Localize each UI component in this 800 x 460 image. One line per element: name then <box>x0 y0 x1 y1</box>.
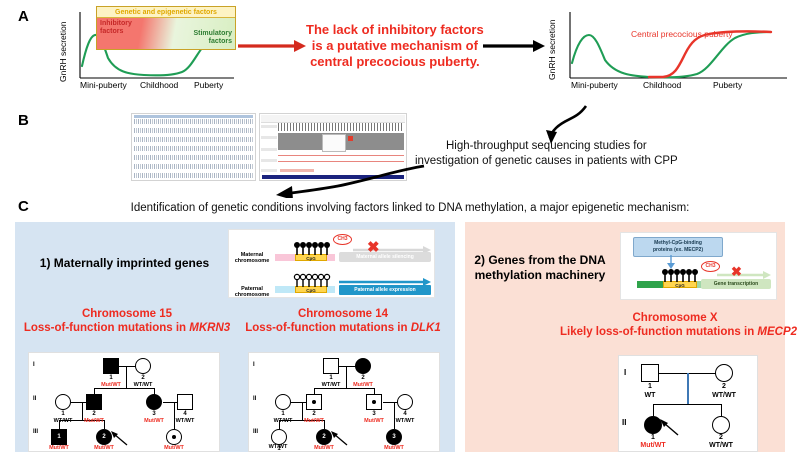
sibship-branch <box>721 404 722 416</box>
maternal-chromosome-label: Maternal chromosome <box>231 252 273 264</box>
generation-label-iii: III <box>33 429 38 435</box>
paternal-dna-left <box>275 286 295 293</box>
pedigree-symbol[interactable] <box>715 364 733 382</box>
pedigree-symbol[interactable] <box>86 394 102 410</box>
alignment-row <box>134 146 253 151</box>
case-mkrn3-chromosome: Chromosome 15 <box>22 307 232 321</box>
case-dlk1-chromosome: Chromosome 14 <box>238 307 448 321</box>
browser-red-track <box>278 161 404 162</box>
gene-transcription-box: Gene transcription <box>701 279 771 289</box>
stimulatory-line-2: factors <box>193 38 232 46</box>
chart-right-xtick-1: Childhood <box>643 80 681 90</box>
pedigree-symbol[interactable] <box>397 394 413 410</box>
pedigree-symbol[interactable] <box>323 358 339 374</box>
factor-legend-header: Genetic and epigenetic factors <box>97 7 235 18</box>
panel-letter-a: A <box>18 8 29 25</box>
proband-arrow-icon <box>331 431 349 447</box>
curved-arrow-to-panel-c-icon <box>188 164 428 198</box>
factor-gradient-block: Genetic and epigenetic factors Inhibitor… <box>96 6 236 50</box>
maternal-dna-left <box>275 254 295 261</box>
paternal-allele-expression-box: Paternal allele expression <box>339 285 431 295</box>
member-genotype: WT/WT <box>703 392 745 399</box>
dlk1-member-iii-1-genotype: WT/WT <box>254 444 302 450</box>
member-number: 2 <box>316 434 332 440</box>
methyl-group-filled-icon <box>293 240 331 255</box>
consanguinity-drop <box>687 373 689 404</box>
member-genotype: WT/WT <box>119 382 167 388</box>
dna-exon-left <box>637 281 663 288</box>
member-number: 2 <box>306 411 322 417</box>
cpp-statement: The lack of inhibitory factors is a puta… <box>306 22 484 70</box>
member-number: 2 <box>715 383 733 390</box>
maternal-cpg-island: CpG <box>295 254 327 261</box>
chart-left-xtick-1: Childhood <box>140 80 178 90</box>
pedigree-symbol[interactable] <box>712 416 730 434</box>
case-mecp2-caption: Chromosome X Likely loss-of-function mut… <box>560 311 790 339</box>
case-mecp2-prefix: Likely loss-of-function mutations in <box>560 326 757 338</box>
member-number: 2 <box>135 375 151 381</box>
inhibitory-factors-label: Inhibitory factors <box>100 20 132 36</box>
generation-label-iii: III <box>253 429 258 435</box>
methylation-machinery-schematic: Methyl-CpG-binding proteins (ex. MECP2) … <box>620 232 777 300</box>
member-number: 3 <box>146 411 162 417</box>
member-genotype: Mut/WT <box>70 418 118 424</box>
alignment-row <box>134 128 253 133</box>
case-dlk1-mutation: Loss-of-function mutations in DLK1 <box>238 321 448 335</box>
generation-label-i: I <box>33 362 35 368</box>
browser-toolbar <box>261 115 405 123</box>
member-number: 1 <box>641 383 659 390</box>
member-number: 2 <box>712 434 730 441</box>
pedigree-symbol[interactable] <box>177 394 193 410</box>
member-number: 1 <box>275 411 291 417</box>
member-number: 4 <box>177 411 193 417</box>
carrier-dot-icon <box>372 400 376 404</box>
group2-heading: 2) Genes from the DNA methylation machin… <box>470 253 610 283</box>
member-number: 2 <box>96 434 112 440</box>
stimulatory-line-1: Stimulatory <box>193 30 232 38</box>
pedigree-mkrn3: I II III 1 Mut/WT 2 WT/WT 1 WT/WT 2 Mut/… <box>28 352 220 452</box>
member-number: 2 <box>86 411 102 417</box>
paternal-label-line-2: chromosome <box>231 292 273 298</box>
pedigree-symbol[interactable] <box>271 429 287 445</box>
proband-arrow-icon <box>660 419 680 437</box>
chart-left-xtick-0: Mini-puberty <box>80 80 127 90</box>
case-mkrn3-gene: MKRN3 <box>189 322 230 334</box>
stimulatory-factors-label: Stimulatory factors <box>193 30 232 46</box>
methyl-group-open-icon <box>293 272 331 287</box>
sibship-branch <box>653 404 654 416</box>
generation-label-ii: II <box>253 396 256 402</box>
member-genotype: WT/WT <box>700 442 742 449</box>
panel-b-caption: High-throughput sequencing studies for i… <box>415 139 678 169</box>
alignment-row <box>134 119 253 124</box>
case-dlk1-caption: Chromosome 14 Loss-of-function mutations… <box>238 307 448 335</box>
browser-popup <box>322 134 346 152</box>
cpp-statement-line-3: central precocious puberty. <box>306 54 484 70</box>
maternal-ch3-label: CH3 <box>333 234 352 245</box>
member-number: 1 <box>51 434 67 440</box>
case-mkrn3-prefix: Loss-of-function mutations in <box>24 322 189 334</box>
case-mecp2-chromosome: Chromosome X <box>560 311 790 325</box>
transcription-block-x-icon: ✖ <box>731 265 742 278</box>
case-mecp2-mutation: Likely loss-of-function mutations in MEC… <box>560 325 790 339</box>
cpp-statement-line-1: The lack of inhibitory factors <box>306 22 484 38</box>
black-arrow-icon <box>483 38 545 54</box>
member-genotype: WT/WT <box>381 418 429 424</box>
sibship-line <box>653 404 722 405</box>
case-mecp2-gene: MECP2 <box>757 326 797 338</box>
generation-label-i: I <box>624 368 626 377</box>
panel-b-caption-line-1: High-throughput sequencing studies for <box>415 139 678 154</box>
group2-heading-line-1: 2) Genes from the DNA <box>470 253 610 268</box>
member-number: 3 <box>166 434 182 440</box>
member-number: 3 <box>366 411 382 417</box>
case-dlk1-prefix: Loss-of-function mutations in <box>245 322 410 334</box>
member-genotype: Mut/WT <box>632 442 674 449</box>
chart-right-xtick-0: Mini-puberty <box>571 80 618 90</box>
member-genotype: WT <box>629 392 671 399</box>
chart-right-xtick-2: Puberty <box>713 80 742 90</box>
member-number: 4 <box>397 411 413 417</box>
panel-b-caption-line-2: investigation of genetic causes in patie… <box>415 154 678 169</box>
alignment-row <box>134 155 253 160</box>
member-genotype: Mut/WT <box>290 418 338 424</box>
maternal-label-line-2: chromosome <box>231 258 273 264</box>
case-dlk1-gene: DLK1 <box>411 322 441 334</box>
paternal-dna-mid <box>327 286 335 293</box>
pedigree-dlk1: I II III 1 WT/WT 2 Mut/WT 1 WT/WT 2 Mut/… <box>248 352 440 452</box>
proband-arrow-icon <box>111 431 129 447</box>
chart-cpp: GnRH secretion Central precocious pubert… <box>545 8 790 93</box>
generation-label-ii: II <box>33 396 36 402</box>
member-genotype: Mut/WT <box>339 382 387 388</box>
paternal-cpg-island: CpG <box>295 286 327 293</box>
browser-red-track <box>278 155 404 156</box>
group2-heading-line-2: methylation machinery <box>470 268 610 283</box>
carrier-dot-icon <box>312 400 316 404</box>
member-number: 1 <box>323 375 339 381</box>
pedigree-symbol[interactable] <box>135 358 151 374</box>
member-number: 1 <box>55 411 71 417</box>
browser-ruler <box>278 123 404 131</box>
member-number: 1 <box>103 375 119 381</box>
browser-variant-marker <box>348 136 353 141</box>
member-number: 3 <box>386 434 402 440</box>
member-number: 2 <box>355 375 371 381</box>
red-arrow-icon <box>238 38 306 54</box>
mbd-protein-box: Methyl-CpG-binding proteins (ex. MECP2) <box>633 237 723 257</box>
pedigree-symbol[interactable] <box>275 394 291 410</box>
chart-normal-puberty: GnRH secretion Mini-puberty Childhood Pu… <box>58 8 238 93</box>
maternal-allele-silencing-box: Maternal allele silencing <box>339 252 431 262</box>
panel-letter-b: B <box>18 112 29 129</box>
cpp-statement-line-2: is a putative mechanism of <box>306 38 484 54</box>
imprinting-schematic: Maternal chromosome CpG CH3 ✖ Maternal a… <box>228 229 435 298</box>
paternal-chromosome-label: Paternal chromosome <box>231 286 273 298</box>
panel-letter-c: C <box>18 198 29 215</box>
child-line <box>394 402 395 429</box>
maternal-dna-mid <box>327 254 335 261</box>
pedigree-mecp2: I II 1 WT 2 WT/WT 1 Mut/WT 2 WT/WT <box>618 355 758 452</box>
alignment-row <box>134 137 253 142</box>
pedigree-symbol[interactable] <box>355 358 371 374</box>
case-mkrn3-caption: Chromosome 15 Loss-of-function mutations… <box>22 307 232 335</box>
group1-heading: 1) Maternally imprinted genes <box>22 256 227 271</box>
cpp-curve-annotation: Central precocious puberty <box>631 29 733 39</box>
case-mkrn3-mutation: Loss-of-function mutations in MKRN3 <box>22 321 232 335</box>
mbd-line-2: proteins (ex. MECP2) <box>637 247 719 254</box>
pedigree-symbol[interactable] <box>641 364 659 382</box>
alignment-header-band <box>134 115 253 118</box>
member-genotype: Mut/WT <box>150 445 198 451</box>
generation-label-i: I <box>253 362 255 368</box>
member-genotype: Mut/WT <box>35 445 83 451</box>
methyl-group-filled-icon <box>661 267 701 282</box>
sibship-line <box>94 388 155 389</box>
pedigree-symbol[interactable] <box>146 394 162 410</box>
pedigree-symbol[interactable] <box>55 394 71 410</box>
panel-c-title: Identification of genetic conditions inv… <box>60 202 760 214</box>
chart-left-xtick-2: Puberty <box>194 80 223 90</box>
cpg-island: CpG <box>663 281 697 288</box>
mbd-line-1: Methyl-CpG-binding <box>637 240 719 247</box>
inhibitory-line-2: factors <box>100 28 132 36</box>
sibship-line <box>314 388 375 389</box>
child-line <box>174 402 175 429</box>
pedigree-symbol[interactable] <box>103 358 119 374</box>
generation-label-ii: II <box>622 418 626 427</box>
inhibitory-line-1: Inhibitory <box>100 20 132 28</box>
member-genotype: Mut/WT <box>370 445 418 451</box>
member-genotype: WT/WT <box>161 418 209 424</box>
